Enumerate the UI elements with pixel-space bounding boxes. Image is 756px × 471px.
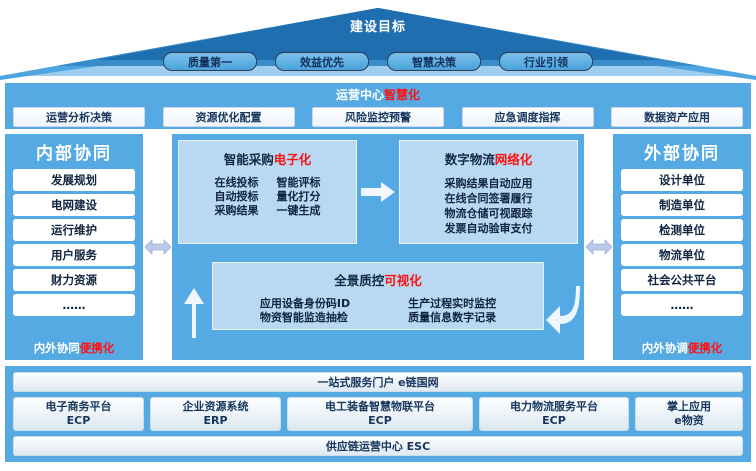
left-item-financial-resources[interactable]: 财力资源 [13, 269, 135, 291]
right-item-ellipsis[interactable]: …… [621, 294, 743, 316]
panel-digital-logistics-title: 数字物流网络化 [400, 149, 577, 168]
left-item-ellipsis[interactable]: …… [13, 294, 135, 316]
procurement-title-main: 智能采购 [224, 152, 274, 167]
procurement-col-left: 在线投标 自动授标 采购结果 [215, 176, 259, 218]
operations-center-title-main: 运营中心 [336, 88, 384, 102]
logistics-feature-lines: 采购结果自动应用 在线合同签署履行 物流仓储可视跟踪 发票自动验审支付 [400, 176, 577, 236]
external-collaboration-column: 外部协同 设计单位 制造单位 检测单位 物流单位 社会公共平台 …… 内外协调便… [612, 133, 752, 361]
esc-bar[interactable]: 供应链运营中心 ESC [13, 436, 743, 456]
center-flow-arrow-wrap [357, 140, 399, 244]
header-pill-data-asset[interactable]: 数据资产应用 [611, 107, 743, 127]
quality-item-supervision-sampling: 物资智能监造抽检 [260, 311, 350, 325]
platform-3-code: ECP [368, 414, 392, 428]
left-footer-accent: 便携化 [80, 341, 115, 355]
foundation-section: 一站式服务门户 e链国网 电子商务平台 ECP 企业资源系统 ERP 电工装备智… [4, 365, 752, 463]
roof-pill-benefit[interactable]: 效益优先 [275, 52, 369, 71]
platform-erp-enterprise[interactable]: 企业资源系统 ERP [150, 397, 281, 431]
left-item-grid-construction[interactable]: 电网建设 [13, 194, 135, 216]
panel-digital-logistics[interactable]: 数字物流网络化 采购结果自动应用 在线合同签署履行 物流仓储可视跟踪 发票自动验… [399, 140, 578, 244]
platform-1-name: 电子商务平台 [46, 400, 112, 414]
header-pill-resource[interactable]: 资源优化配置 [163, 107, 295, 127]
portal-bar[interactable]: 一站式服务门户 e链国网 [13, 372, 743, 392]
right-footer-main: 内外协调 [642, 341, 688, 355]
procurement-col-right: 智能评标 量化打分 一键生成 [277, 176, 321, 218]
platform-2-name: 企业资源系统 [183, 400, 249, 414]
arrow-right-icon [361, 180, 395, 204]
right-item-public-platform[interactable]: 社会公共平台 [621, 269, 743, 291]
right-footer-accent: 便携化 [688, 341, 723, 355]
arrow-up-loop-icon [176, 282, 210, 338]
left-exchange-arrow-wrap [144, 133, 171, 361]
platform-ecp-ecommerce[interactable]: 电子商务平台 ECP [13, 397, 144, 431]
double-arrow-right-icon [586, 237, 612, 257]
internal-collaboration-column: 内部协同 发展规划 电网建设 运行维护 用户服务 财力资源 …… 内外协同便携化 [4, 133, 144, 361]
external-collaboration-footer: 内外协调便携化 [621, 338, 743, 356]
roof-pill-group: 质量第一 效益优先 智慧决策 行业引领 [0, 52, 756, 71]
roof-title: 建设目标 [0, 16, 756, 35]
platform-1-code: ECP [67, 414, 91, 428]
panel-panoramic-quality-title: 全景质控可视化 [213, 270, 543, 289]
platform-5-name: 掌上应用 [667, 400, 711, 414]
procurement-item-one-click-gen: 一键生成 [277, 204, 321, 218]
right-item-manufacturing-unit[interactable]: 制造单位 [621, 194, 743, 216]
procurement-item-quant-scoring: 量化打分 [277, 190, 321, 204]
left-item-development-plan[interactable]: 发展规划 [13, 169, 135, 191]
quality-item-digital-record: 质量信息数字记录 [408, 311, 496, 325]
center-process-column: 智能采购电子化 在线投标 自动授标 采购结果 智能评标 量化打分 一键生成 [171, 133, 585, 361]
quality-item-realtime-monitor: 生产过程实时监控 [408, 297, 496, 311]
double-arrow-left-icon [145, 237, 171, 257]
panel-smart-procurement[interactable]: 智能采购电子化 在线投标 自动授标 采购结果 智能评标 量化打分 一键生成 [178, 140, 357, 244]
platform-ecp-iot[interactable]: 电工装备智慧物联平台 ECP [287, 397, 473, 431]
logistics-item-warehouse-tracking: 物流仓储可视跟踪 [400, 206, 577, 221]
operations-center-title-accent: 智慧化 [384, 88, 420, 102]
procurement-feature-columns: 在线投标 自动授标 采购结果 智能评标 量化打分 一键生成 [179, 176, 356, 218]
platform-4-code: ECP [542, 414, 566, 428]
platform-2-code: ERP [203, 414, 227, 428]
quality-col-left: 应用设备身份码ID 物资智能监造抽检 [260, 297, 350, 325]
quality-title-main: 全景质控 [334, 273, 384, 288]
right-item-design-unit[interactable]: 设计单位 [621, 169, 743, 191]
internal-collaboration-title: 内部协同 [13, 139, 135, 164]
left-footer-main: 内外协同 [34, 341, 80, 355]
logistics-title-main: 数字物流 [445, 152, 495, 167]
operations-center-pill-group: 运营分析决策 资源优化配置 风险监控预警 应急调度指挥 数据资产应用 [5, 103, 751, 127]
left-item-customer-service[interactable]: 用户服务 [13, 244, 135, 266]
platform-mobile-app[interactable]: 掌上应用 e物资 [635, 397, 743, 431]
logistics-item-online-contract: 在线合同签署履行 [400, 191, 577, 206]
quality-item-device-id: 应用设备身份码ID [260, 297, 350, 311]
header-pill-emergency[interactable]: 应急调度指挥 [462, 107, 594, 127]
platform-ecp-logistics[interactable]: 电力物流服务平台 ECP [479, 397, 629, 431]
procurement-title-accent: 电子化 [274, 152, 312, 167]
logistics-item-auto-apply: 采购结果自动应用 [400, 176, 577, 191]
header-pill-analysis[interactable]: 运营分析决策 [13, 107, 145, 127]
operations-center-band: 运营中心智慧化 运营分析决策 资源优化配置 风险监控预警 应急调度指挥 数据资产… [4, 82, 752, 130]
roof-pill-industry[interactable]: 行业引领 [499, 52, 593, 71]
middle-section: 内部协同 发展规划 电网建设 运行维护 用户服务 财力资源 …… 内外协同便携化… [4, 133, 752, 361]
right-item-logistics-unit[interactable]: 物流单位 [621, 244, 743, 266]
platform-4-name: 电力物流服务平台 [510, 400, 598, 414]
internal-collaboration-footer: 内外协同便携化 [13, 338, 135, 356]
procurement-item-result: 采购结果 [215, 204, 259, 218]
arrow-curved-left-icon [546, 282, 580, 338]
panel-smart-procurement-title: 智能采购电子化 [179, 149, 356, 168]
platform-row: 电子商务平台 ECP 企业资源系统 ERP 电工装备智慧物联平台 ECP 电力物… [13, 397, 743, 431]
procurement-item-auto-award: 自动授标 [215, 190, 259, 204]
external-collaboration-title: 外部协同 [621, 139, 743, 164]
procurement-item-smart-evaluation: 智能评标 [277, 176, 321, 190]
platform-3-name: 电工装备智慧物联平台 [325, 400, 435, 414]
left-item-operation-maintenance[interactable]: 运行维护 [13, 219, 135, 241]
panel-panoramic-quality[interactable]: 全景质控可视化 应用设备身份码ID 物资智能监造抽检 生产过程实时监控 质量信息… [212, 262, 544, 330]
center-bottom-row: 全景质控可视化 应用设备身份码ID 物资智能监造抽检 生产过程实时监控 质量信息… [178, 262, 578, 330]
right-item-testing-unit[interactable]: 检测单位 [621, 219, 743, 241]
platform-5-code: e物资 [674, 414, 703, 428]
operations-center-title: 运营中心智慧化 [5, 83, 751, 103]
roof-section: 建设目标 质量第一 效益优先 智慧决策 行业引领 [0, 0, 756, 80]
quality-feature-columns: 应用设备身份码ID 物资智能监造抽检 生产过程实时监控 质量信息数字记录 [213, 297, 543, 325]
logistics-title-accent: 网络化 [495, 152, 533, 167]
logistics-item-invoice-payment: 发票自动验审支付 [400, 221, 577, 236]
right-exchange-arrow-wrap [585, 133, 612, 361]
roof-pill-decision[interactable]: 智慧决策 [387, 52, 481, 71]
quality-title-accent: 可视化 [384, 273, 422, 288]
center-top-row: 智能采购电子化 在线投标 自动授标 采购结果 智能评标 量化打分 一键生成 [178, 140, 578, 244]
roof-pill-quality[interactable]: 质量第一 [163, 52, 257, 71]
header-pill-risk[interactable]: 风险监控预警 [312, 107, 444, 127]
quality-col-right: 生产过程实时监控 质量信息数字记录 [408, 297, 496, 325]
procurement-item-online-bidding: 在线投标 [215, 176, 259, 190]
